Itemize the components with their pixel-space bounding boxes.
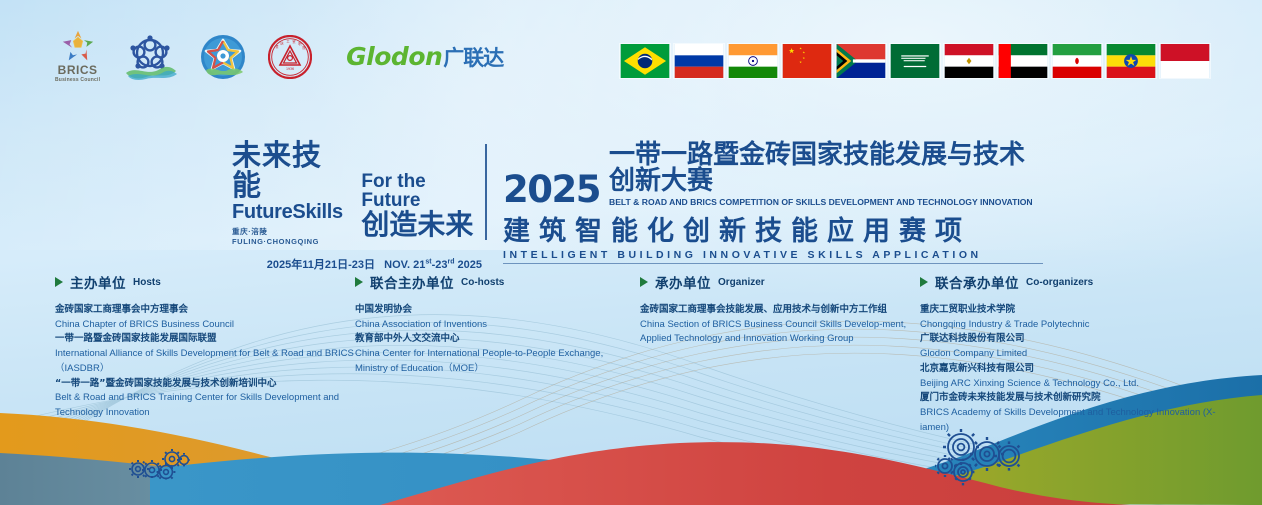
organizer-head-en: Co-organizers xyxy=(1026,277,1093,288)
organizer-column-header: 联合承办单位 Co-organizers xyxy=(920,272,1240,292)
organizer-entry-cn: 厦门市金砖未来技能发展与技术创新研究院 xyxy=(920,391,1240,406)
organizer-entry-cn: 一带一路暨金砖国家技能发展国际联盟 xyxy=(55,332,355,347)
organizer-entry-en: Belt & Road and BRICS Training Center fo… xyxy=(55,391,355,420)
brics-logo-text: BRICS xyxy=(58,64,98,76)
organizer-head-en: Hosts xyxy=(133,277,161,288)
organizer-head-cn: 联合承办单位 xyxy=(935,272,1019,292)
triangle-marker-icon xyxy=(355,277,363,287)
slogan-en-2: For the Future xyxy=(361,172,482,210)
brics-skills-circle-icon xyxy=(200,34,246,80)
organizer-column-header: 主办单位 Hosts xyxy=(55,272,355,292)
organizer-column-header: 联合主办单位 Co-hosts xyxy=(355,272,630,292)
organizer-column-header: 承办单位 Organizer xyxy=(640,272,910,292)
glodon-logo-text-cn: 广联达 xyxy=(443,42,503,72)
organizer-head-cn: 联合主办单位 xyxy=(370,272,454,292)
slogan-cn-2: 创造未来 xyxy=(361,210,482,239)
triangle-marker-icon xyxy=(920,277,928,287)
university-seal-icon: 重庆工 贸职院 1936 xyxy=(268,35,312,79)
organizer-entry-cn: 金砖国家工商理事会技能发展、应用技术与创新中方工作组 xyxy=(640,303,910,318)
organizer-entry-cn: “一带一路”暨金砖国家技能发展与技术创新培训中心 xyxy=(55,377,355,392)
organizer-entry-en: International Alliance of Skills Develop… xyxy=(55,347,355,376)
gear-cluster-right xyxy=(935,428,1021,488)
organizer-column-hosts: 主办单位 Hosts 金砖国家工商理事会中方理事会 China Chapter … xyxy=(55,272,355,421)
organizer-entry-list: 重庆工贸职业技术学院 Chongqing Industry & Trade Po… xyxy=(920,303,1240,435)
organizer-entry-cn: 中国发明协会 xyxy=(355,303,630,318)
flag-india xyxy=(728,44,778,78)
category-name-en: INTELLIGENT BUILDING INNOVATIVE SKILLS A… xyxy=(503,249,1043,261)
organizer-entry-list: 金砖国家工商理事会中方理事会 China Chapter of BRICS Bu… xyxy=(55,303,355,421)
title-divider xyxy=(485,144,487,240)
organizer-entry-cn: 重庆工贸职业技术学院 xyxy=(920,303,1240,318)
category-name-cn: 建筑智能化创新技能应用赛项 xyxy=(503,218,1043,246)
svg-text:贸: 贸 xyxy=(293,38,296,43)
partner-logo-row: BRICS Business Council xyxy=(55,30,503,83)
iasdbr-emblem-icon xyxy=(122,33,178,81)
organizer-entry-cn: 金砖国家工商理事会中方理事会 xyxy=(55,303,355,318)
university-seal-logo: 重庆工 贸职院 1936 xyxy=(268,35,312,79)
organizer-entry-en: China Association of Inventions xyxy=(355,318,630,333)
organizer-entry-list: 金砖国家工商理事会技能发展、应用技术与创新中方工作组 China Section… xyxy=(640,303,910,347)
organizer-column-co-organizers: 联合承办单位 Co-organizers 重庆工贸职业技术学院 Chongqin… xyxy=(920,272,1240,435)
brics-business-council-logo: BRICS Business Council xyxy=(55,30,100,83)
competition-name-en: BELT & ROAD AND BRICS COMPETITION OF SKI… xyxy=(609,197,1043,207)
gear-cluster-left xyxy=(128,448,190,484)
slogan-cn-1: 未来技能 xyxy=(232,140,349,201)
organizer-entry-en: China Chapter of BRICS Business Council xyxy=(55,318,355,333)
organizer-head-cn: 主办单位 xyxy=(70,272,126,292)
organizer-entry-en: Beijing ARC Xinxing Science & Technology… xyxy=(920,377,1240,392)
iasdbr-logo xyxy=(122,33,178,81)
location-en: FULING·CHONGQING xyxy=(232,237,319,246)
glodon-logo: Glodon 广联达 xyxy=(346,42,503,72)
event-dates: 2025年11月21日-23日 NOV. 21st-23rd 2025 xyxy=(232,256,482,272)
member-country-flag-row xyxy=(620,44,1210,78)
organizer-column-organizer: 承办单位 Organizer 金砖国家工商理事会技能发展、应用技术与创新中方工作… xyxy=(640,272,910,347)
title-underline xyxy=(503,263,1043,264)
brics-logo-subtext: Business Council xyxy=(55,77,100,83)
location-cn: 重庆·涪陵 xyxy=(232,227,268,236)
organizer-head-en: Co-hosts xyxy=(461,277,504,288)
brics-star-icon xyxy=(61,30,95,62)
event-title-block: 未来技能 FutureSkills 重庆·涪陵 FULING·CHONGQING… xyxy=(0,140,1262,245)
organizer-entry-cn: 教育部中外人文交流中心 xyxy=(355,332,630,347)
flag-brazil xyxy=(620,44,670,78)
slogan-location: 重庆·涪陵 FULING·CHONGQING xyxy=(232,226,349,246)
svg-text:1936: 1936 xyxy=(286,67,294,71)
brics-skills-emblem-logo xyxy=(200,34,246,80)
organizer-head-cn: 承办单位 xyxy=(655,272,711,292)
organizer-entry-en: China Center for International People-to… xyxy=(355,347,630,376)
svg-text:重: 重 xyxy=(276,44,280,49)
flag-saudi-arabia xyxy=(890,44,940,78)
slogan-block: 未来技能 FutureSkills 重庆·涪陵 FULING·CHONGQING… xyxy=(232,140,482,272)
flag-egypt xyxy=(944,44,994,78)
organizer-column-co-hosts: 联合主办单位 Co-hosts 中国发明协会 China Association… xyxy=(355,272,630,377)
organizer-head-en: Organizer xyxy=(718,277,765,288)
organizer-entry-en: Glodon Company Limited xyxy=(920,347,1240,362)
organizer-entry-en: China Section of BRICS Business Council … xyxy=(640,318,910,347)
event-dates-cn: 2025年11月21日-23日 xyxy=(267,259,375,271)
flag-china xyxy=(782,44,832,78)
slogan-en-1: FutureSkills xyxy=(232,201,349,223)
organizer-entry-cn: 北京嘉克新兴科技有限公司 xyxy=(920,362,1240,377)
flag-uae xyxy=(998,44,1048,78)
flag-indonesia xyxy=(1160,44,1210,78)
triangle-marker-icon xyxy=(640,277,648,287)
triangle-marker-icon xyxy=(55,277,63,287)
flag-south-africa xyxy=(836,44,886,78)
svg-text:庆: 庆 xyxy=(281,40,285,45)
organizer-entry-en: Chongqing Industry & Trade Polytechnic xyxy=(920,318,1240,333)
flag-russia xyxy=(674,44,724,78)
organizer-entry-cn: 广联达科技股份有限公司 xyxy=(920,332,1240,347)
flag-ethiopia xyxy=(1106,44,1156,78)
svg-text:工: 工 xyxy=(287,39,291,43)
glodon-logo-text-en: Glodon xyxy=(346,42,442,71)
event-dates-en: NOV. 21st-23rd 2025 xyxy=(384,259,482,271)
event-year: 2025 xyxy=(503,173,600,207)
competition-title: 2025 一带一路暨金砖国家技能发展与技术创新大赛 BELT & ROAD AN… xyxy=(503,142,1043,264)
flag-iran xyxy=(1052,44,1102,78)
competition-name-cn: 一带一路暨金砖国家技能发展与技术创新大赛 xyxy=(609,142,1043,194)
organizer-entry-list: 中国发明协会 China Association of Inventions 教… xyxy=(355,303,630,377)
